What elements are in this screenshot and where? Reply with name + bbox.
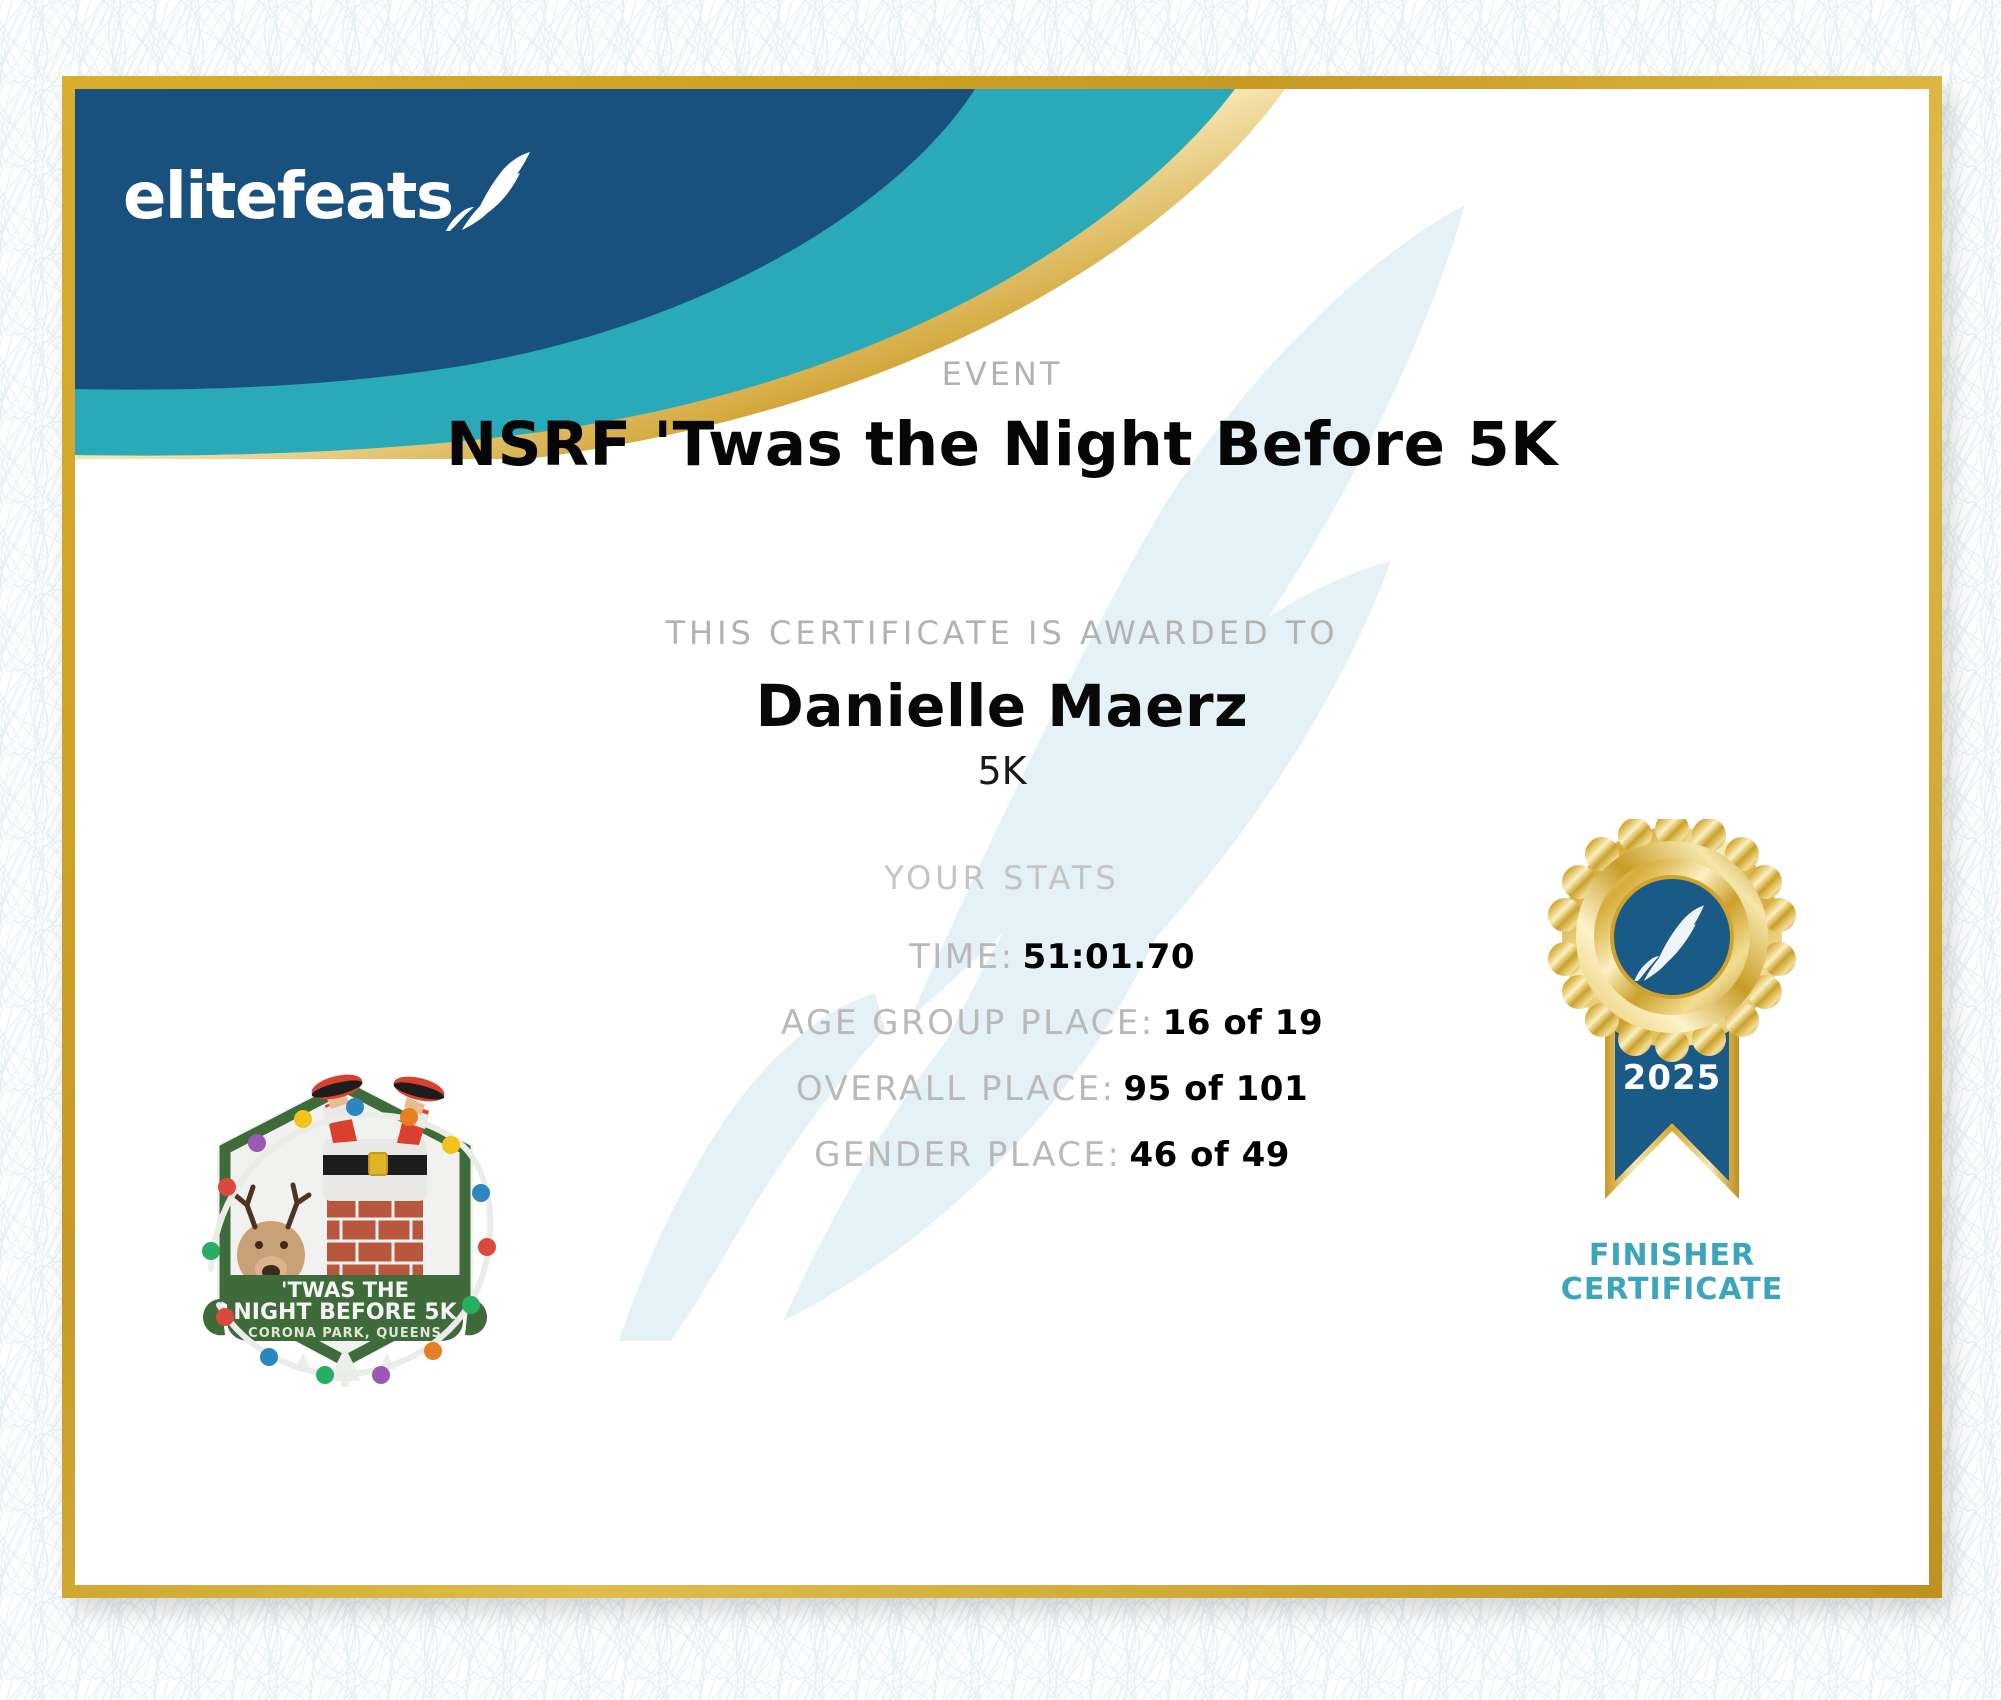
winged-foot-icon xyxy=(444,149,540,233)
stat-value: 16 of 19 xyxy=(1163,1003,1323,1043)
stat-key: OVERALL PLACE: xyxy=(796,1069,1116,1109)
event-label: EVENT xyxy=(75,355,1929,393)
finisher-caption-line2: CERTIFICATE xyxy=(1527,1273,1817,1307)
stat-key: AGE GROUP PLACE: xyxy=(781,1003,1155,1043)
stat-key: GENDER PLACE: xyxy=(814,1135,1121,1175)
race-badge-line2: NIGHT BEFORE 5K xyxy=(233,1300,457,1325)
stat-value: 46 of 49 xyxy=(1129,1135,1289,1175)
event-title: NSRF 'Twas the Night Before 5K xyxy=(75,409,1929,480)
finisher-medal: 2025 xyxy=(1527,819,1817,1319)
brand-wordmark: elitefeats xyxy=(123,165,452,229)
race-badge-line3: CORONA PARK, QUEENS xyxy=(248,1326,442,1341)
recipient-name: Danielle Maerz xyxy=(75,672,1929,740)
brand-logo: elitefeats xyxy=(123,149,540,229)
race-event-badge: 'TWAS THE NIGHT BEFORE 5K CORONA PARK, Q… xyxy=(185,1069,505,1389)
header-decoration xyxy=(75,89,1929,459)
finisher-caption-line1: FINISHER xyxy=(1527,1239,1817,1273)
stat-value: 95 of 101 xyxy=(1124,1069,1309,1109)
stat-value: 51:01.70 xyxy=(1023,937,1195,977)
medal-graphic: 2025 xyxy=(1527,819,1817,1239)
certificate-body: elitefeats EVENT NSRF 'Twas the Night Be… xyxy=(75,89,1929,1585)
finisher-caption: FINISHER CERTIFICATE xyxy=(1527,1239,1817,1306)
awarded-to-label: THIS CERTIFICATE IS AWARDED TO xyxy=(75,614,1929,652)
medal-year: 2025 xyxy=(1623,1058,1722,1098)
stat-key: TIME: xyxy=(909,937,1015,977)
race-badge-line1: 'TWAS THE xyxy=(281,1278,409,1302)
certificate-frame: elitefeats EVENT NSRF 'Twas the Night Be… xyxy=(62,76,1942,1598)
recipient-distance: 5K xyxy=(75,749,1929,793)
